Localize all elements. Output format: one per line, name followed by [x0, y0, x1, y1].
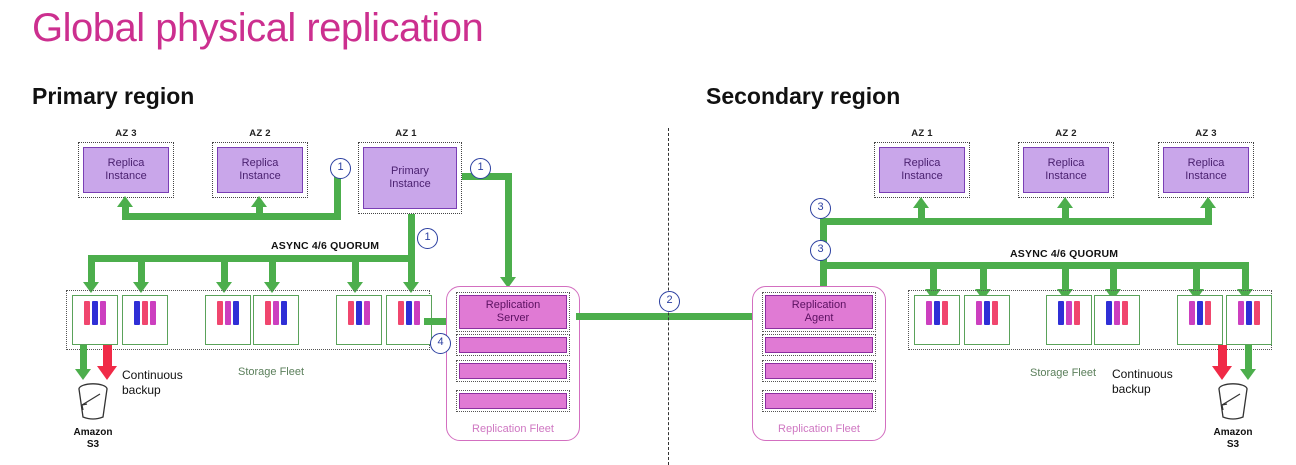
- secondary-az-2-group: Replica Instance: [1018, 142, 1114, 198]
- secondary-az-1-label: AZ 1: [874, 128, 970, 139]
- replication-node[interactable]: [765, 393, 873, 409]
- instance-label-line2: Instance: [1185, 170, 1227, 183]
- secondary-storage-cell-2[interactable]: [964, 295, 1010, 345]
- secondary-az-1-group: Replica Instance: [874, 142, 970, 198]
- primary-s3-green-arrow: [75, 369, 91, 380]
- continuous-backup-line1: Continuous: [122, 368, 183, 383]
- primary-storage-cell-4[interactable]: [253, 295, 299, 345]
- s3-label-line2: S3: [1195, 439, 1271, 451]
- secondary-storage-cell-1[interactable]: [914, 295, 960, 345]
- primary-az-3-label: AZ 3: [78, 128, 174, 139]
- primary-s3-label: Amazon S3: [55, 427, 131, 451]
- step-marker-1a: 1: [330, 158, 351, 179]
- storage-bar: [142, 301, 148, 325]
- secondary-replica-instance-az2[interactable]: Replica Instance: [1023, 147, 1109, 193]
- primary-storage-fleet-label: Storage Fleet: [238, 366, 304, 378]
- secondary-drop-3: [1062, 262, 1069, 290]
- instance-label-line2: Instance: [389, 178, 431, 191]
- primary-az-3-group: Replica Instance: [78, 142, 174, 198]
- primary-replication-fleet-label: Replication Fleet: [446, 423, 580, 435]
- primary-to-replication-v: [505, 173, 512, 278]
- storage-bar: [926, 301, 932, 325]
- storage-bar: [100, 301, 106, 325]
- storage-bar: [976, 301, 982, 325]
- storage-bar: [1246, 301, 1252, 325]
- storage-bar: [984, 301, 990, 325]
- secondary-drop-4: [1110, 262, 1117, 290]
- replication-node-line2: Agent: [805, 312, 834, 325]
- storage-bar: [1106, 301, 1112, 325]
- storage-bar: [150, 301, 156, 325]
- storage-bar: [364, 301, 370, 325]
- storage-bar: [1058, 301, 1064, 325]
- amazon-s3-bucket-icon: [1210, 381, 1256, 423]
- step-marker-1c: 1: [417, 228, 438, 249]
- storage-bar: [233, 301, 239, 325]
- secondary-storage-cell-5[interactable]: [1177, 295, 1223, 345]
- replication-node[interactable]: [459, 393, 567, 409]
- secondary-replication-slot-1[interactable]: Replication Agent: [762, 292, 876, 332]
- primary-storage-cell-3[interactable]: [205, 295, 251, 345]
- primary-drop-6: [408, 255, 415, 283]
- instance-label-line2: Instance: [239, 170, 281, 183]
- storage-bar: [992, 301, 998, 325]
- secondary-s3-red-line: [1218, 345, 1227, 367]
- secondary-feed-az3-arrow: [1200, 197, 1216, 208]
- storage-bar: [134, 301, 140, 325]
- primary-s3-red-line: [103, 345, 112, 367]
- secondary-az-3-label: AZ 3: [1158, 128, 1254, 139]
- secondary-replication-fleet-label: Replication Fleet: [752, 423, 886, 435]
- primary-az-2-label: AZ 2: [212, 128, 308, 139]
- replication-node[interactable]: [765, 363, 873, 379]
- instance-label-line1: Replica: [1188, 157, 1225, 170]
- secondary-storage-cell-3[interactable]: [1046, 295, 1092, 345]
- storage-bar: [1189, 301, 1195, 325]
- storage-bar: [217, 301, 223, 325]
- s3-label-line2: S3: [55, 439, 131, 451]
- amazon-s3-bucket-icon: [70, 381, 116, 423]
- storage-bar: [1254, 301, 1260, 325]
- storage-bar: [1066, 301, 1072, 325]
- secondary-replication-slot-3[interactable]: [762, 360, 876, 382]
- primary-az-1-group: Primary Instance: [358, 142, 462, 214]
- secondary-storage-cell-6[interactable]: [1226, 295, 1272, 345]
- replication-server-node[interactable]: Replication Server: [459, 295, 567, 329]
- storage-bar: [934, 301, 940, 325]
- instance-label-line1: Replica: [1048, 157, 1085, 170]
- secondary-drop-6: [1242, 262, 1249, 290]
- primary-az-1-label: AZ 1: [358, 128, 454, 139]
- secondary-region-heading: Secondary region: [706, 83, 900, 109]
- storage-bar: [348, 301, 354, 325]
- primary-quorum-label: ASYNC 4/6 QUORUM: [271, 240, 379, 252]
- primary-drop-1: [88, 255, 95, 283]
- primary-continuous-backup-label: Continuous backup: [122, 368, 183, 398]
- replication-node[interactable]: [765, 337, 873, 353]
- secondary-replica-feed-trunk: [820, 218, 1212, 225]
- step-marker-2: 2: [659, 291, 680, 312]
- secondary-replication-slot-4[interactable]: [762, 390, 876, 412]
- storage-bar: [273, 301, 279, 325]
- primary-storage-cell-2[interactable]: [122, 295, 168, 345]
- secondary-s3-red-arrow: [1212, 366, 1232, 380]
- replication-node[interactable]: [459, 337, 567, 353]
- step-marker-1b: 1: [470, 158, 491, 179]
- step-marker-4: 4: [430, 333, 451, 354]
- secondary-replication-slot-2[interactable]: [762, 334, 876, 356]
- primary-replica-instance-az2[interactable]: Replica Instance: [217, 147, 303, 193]
- secondary-feed-az1-stub: [918, 206, 925, 222]
- primary-drop-3: [221, 255, 228, 283]
- primary-region-heading: Primary region: [32, 83, 194, 109]
- secondary-s3-green-arrow: [1240, 369, 1256, 380]
- primary-s3-green-line: [80, 345, 87, 370]
- secondary-az-2-label: AZ 2: [1018, 128, 1114, 139]
- storage-bar: [1074, 301, 1080, 325]
- primary-storage-cell-1[interactable]: [72, 295, 118, 345]
- s3-label-line1: Amazon: [1195, 427, 1271, 439]
- storage-bar: [265, 301, 271, 325]
- continuous-backup-line2: backup: [1112, 382, 1173, 397]
- primary-replica-feed-trunk: [122, 213, 341, 220]
- instance-label-line2: Instance: [901, 170, 943, 183]
- secondary-drop-5: [1193, 262, 1200, 290]
- instance-label-line1: Replica: [242, 157, 279, 170]
- primary-replica-instance-az3[interactable]: Replica Instance: [83, 147, 169, 193]
- secondary-az-3-group: Replica Instance: [1158, 142, 1254, 198]
- secondary-storage-fleet-label: Storage Fleet: [1030, 367, 1096, 379]
- instance-label-line2: Instance: [1045, 170, 1087, 183]
- storage-bar: [1238, 301, 1244, 325]
- cross-region-link: [576, 313, 776, 320]
- storage-bar: [942, 301, 948, 325]
- secondary-continuous-backup-label: Continuous backup: [1112, 367, 1173, 397]
- primary-drop-2: [138, 255, 145, 283]
- secondary-replica-instance-az1[interactable]: Replica Instance: [879, 147, 965, 193]
- replication-node-line2: Server: [497, 312, 529, 325]
- replication-node-line1: Replication: [486, 299, 540, 312]
- secondary-quorum-label: ASYNC 4/6 QUORUM: [1010, 248, 1118, 260]
- replication-node-line1: Replication: [792, 299, 846, 312]
- secondary-quorum-trunk: [820, 262, 1246, 269]
- secondary-feed-az2-arrow: [1057, 197, 1073, 208]
- storage-bar: [356, 301, 362, 325]
- step-marker-3b: 3: [810, 240, 831, 261]
- storage-bar: [1205, 301, 1211, 325]
- primary-replication-slot-1[interactable]: Replication Server: [456, 292, 570, 332]
- secondary-s3-green-line: [1245, 345, 1252, 370]
- primary-replication-slot-4[interactable]: [456, 390, 570, 412]
- primary-storage-cell-5[interactable]: [336, 295, 382, 345]
- storage-bar: [406, 301, 412, 325]
- secondary-drop-1: [930, 262, 937, 290]
- storage-bar: [281, 301, 287, 325]
- storage-bar: [92, 301, 98, 325]
- continuous-backup-line1: Continuous: [1112, 367, 1173, 382]
- secondary-feed-az2-stub: [1062, 206, 1069, 222]
- page-title: Global physical replication: [32, 6, 483, 50]
- replication-node[interactable]: [459, 363, 567, 379]
- secondary-feed-az1-arrow: [913, 197, 929, 208]
- step-marker-3a: 3: [810, 198, 831, 219]
- continuous-backup-line2: backup: [122, 383, 183, 398]
- primary-replication-slot-3[interactable]: [456, 360, 570, 382]
- instance-label-line2: Instance: [105, 170, 147, 183]
- storage-bar: [414, 301, 420, 325]
- primary-replica-feed-az2-arrow: [251, 196, 267, 207]
- instance-label-line1: Primary: [391, 165, 429, 178]
- s3-label-line1: Amazon: [55, 427, 131, 439]
- primary-az-2-group: Replica Instance: [212, 142, 308, 198]
- storage-bar: [1114, 301, 1120, 325]
- primary-replication-slot-2[interactable]: [456, 334, 570, 356]
- secondary-feed-az3-stub: [1205, 206, 1212, 222]
- primary-instance-az1[interactable]: Primary Instance: [363, 147, 457, 209]
- storage-bar: [398, 301, 404, 325]
- primary-replica-feed-az3-arrow: [117, 196, 133, 207]
- primary-drop-4: [269, 255, 276, 283]
- storage-bar: [1122, 301, 1128, 325]
- instance-label-line1: Replica: [904, 157, 941, 170]
- secondary-storage-cell-4[interactable]: [1094, 295, 1140, 345]
- primary-s3-red-arrow: [97, 366, 117, 380]
- secondary-s3-label: Amazon S3: [1195, 427, 1271, 451]
- instance-label-line1: Replica: [108, 157, 145, 170]
- replication-agent-node[interactable]: Replication Agent: [765, 295, 873, 329]
- primary-drop-5: [352, 255, 359, 283]
- storage-bar: [1197, 301, 1203, 325]
- storage-bar: [84, 301, 90, 325]
- secondary-drop-2: [980, 262, 987, 290]
- secondary-replica-instance-az3[interactable]: Replica Instance: [1163, 147, 1249, 193]
- storage-bar: [225, 301, 231, 325]
